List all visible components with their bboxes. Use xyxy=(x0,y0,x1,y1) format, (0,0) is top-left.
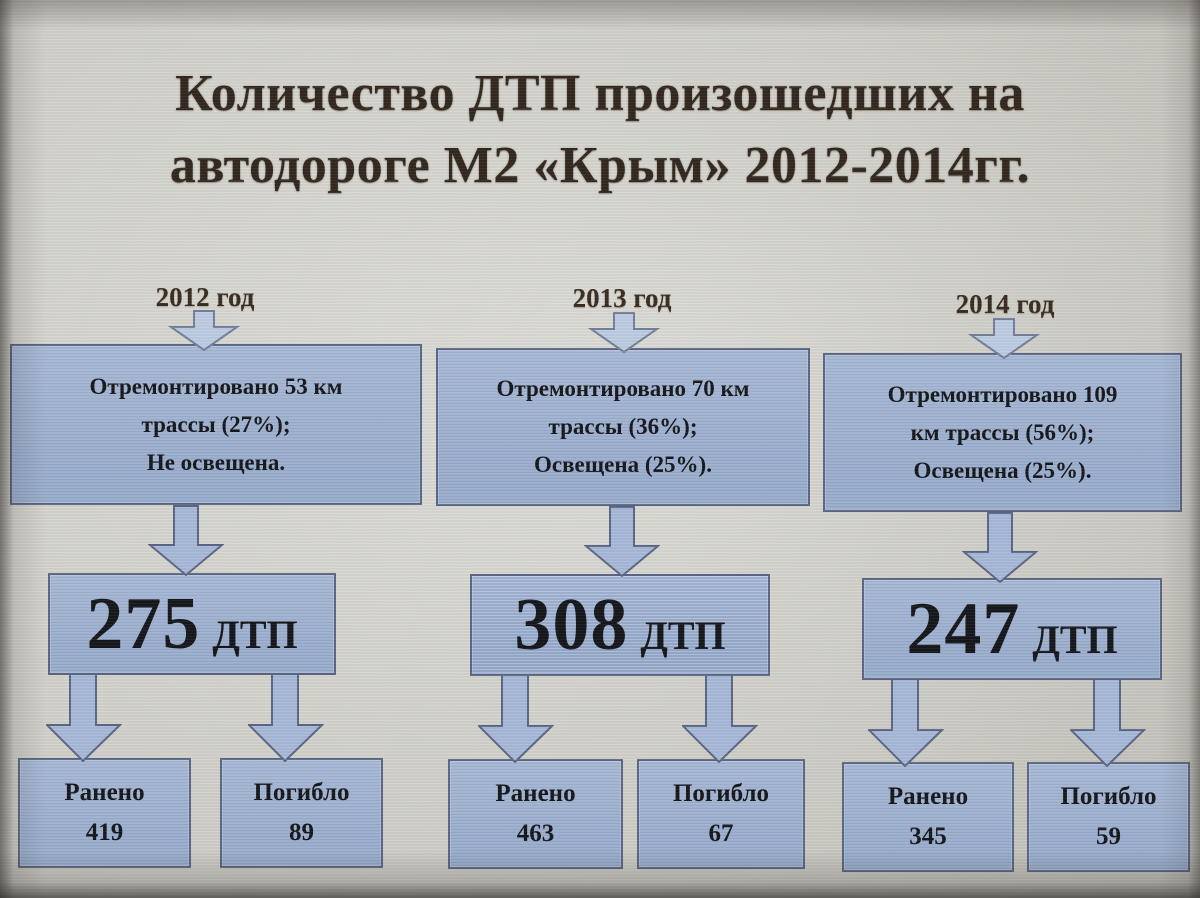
info-box-2013: Отремонтировано 70 км трассы (36%); Осве… xyxy=(436,348,810,506)
outcome-value-killed-2012: 89 xyxy=(289,813,314,853)
page-title: Количество ДТП произошедших на автодорог… xyxy=(0,58,1200,202)
total-value-2013: 308 xyxy=(514,586,628,664)
arrow-total-to-injured-2013 xyxy=(478,674,554,764)
year-label-2014: 2014 год xyxy=(910,288,1100,320)
outcome-box-injured-2014: Ранено 345 xyxy=(842,762,1014,872)
total-unit-2014: ДТП xyxy=(1032,617,1117,663)
arrow-total-to-killed-2014 xyxy=(1070,678,1146,768)
total-value-2014: 247 xyxy=(906,590,1020,668)
outcome-box-killed-2014: Погибло 59 xyxy=(1027,762,1190,872)
outcome-box-killed-2012: Погибло 89 xyxy=(220,758,383,868)
outcome-label-killed-2014: Погибло xyxy=(1060,777,1156,817)
arrow-info-to-total-2014 xyxy=(962,512,1038,584)
info-text-2012: Отремонтировано 53 км трассы (27%); Не о… xyxy=(90,368,343,482)
info-text-2014: Отремонтировано 109 км трассы (56%); Осв… xyxy=(888,376,1118,490)
info-box-2012: Отремонтировано 53 км трассы (27%); Не о… xyxy=(10,344,422,505)
outcome-value-killed-2014: 59 xyxy=(1096,817,1121,857)
total-value-2012: 275 xyxy=(86,585,200,663)
arrow-info-to-total-2013 xyxy=(584,506,660,578)
arrow-year-to-info-2013 xyxy=(588,312,660,354)
arrow-year-to-info-2014 xyxy=(968,318,1040,360)
outcome-label-killed-2013: Погибло xyxy=(673,774,769,814)
slide-canvas: Количество ДТП произошедших на автодорог… xyxy=(0,0,1200,898)
outcome-label-killed-2012: Погибло xyxy=(253,773,349,813)
total-box-2012: 275 ДТП xyxy=(48,573,336,675)
outcome-box-killed-2013: Погибло 67 xyxy=(637,759,805,869)
year-label-2013: 2013 год xyxy=(527,282,717,314)
year-label-2012: 2012 год xyxy=(110,281,300,313)
outcome-value-killed-2013: 67 xyxy=(709,814,734,854)
total-box-2013: 308 ДТП xyxy=(470,574,770,676)
arrow-info-to-total-2012 xyxy=(148,505,224,577)
total-unit-2013: ДТП xyxy=(640,613,725,659)
outcome-box-injured-2013: Ранено 463 xyxy=(448,759,623,869)
arrow-total-to-killed-2012 xyxy=(248,673,324,763)
arrow-total-to-injured-2014 xyxy=(868,678,944,768)
outcome-box-injured-2012: Ранено 419 xyxy=(18,758,191,868)
outcome-label-injured-2014: Ранено xyxy=(888,777,968,817)
total-unit-2012: ДТП xyxy=(212,612,297,658)
arrow-total-to-injured-2012 xyxy=(46,673,122,763)
outcome-value-injured-2014: 345 xyxy=(909,817,947,857)
outcome-value-injured-2013: 463 xyxy=(517,814,555,854)
info-box-2014: Отремонтировано 109 км трассы (56%); Осв… xyxy=(823,353,1182,512)
outcome-label-injured-2012: Ранено xyxy=(64,773,144,813)
info-text-2013: Отремонтировано 70 км трассы (36%); Осве… xyxy=(497,370,750,484)
total-box-2014: 247 ДТП xyxy=(862,578,1162,680)
arrow-total-to-killed-2013 xyxy=(682,674,758,764)
outcome-label-injured-2013: Ранено xyxy=(495,774,575,814)
outcome-value-injured-2012: 419 xyxy=(86,813,124,853)
arrow-year-to-info-2012 xyxy=(168,310,240,352)
